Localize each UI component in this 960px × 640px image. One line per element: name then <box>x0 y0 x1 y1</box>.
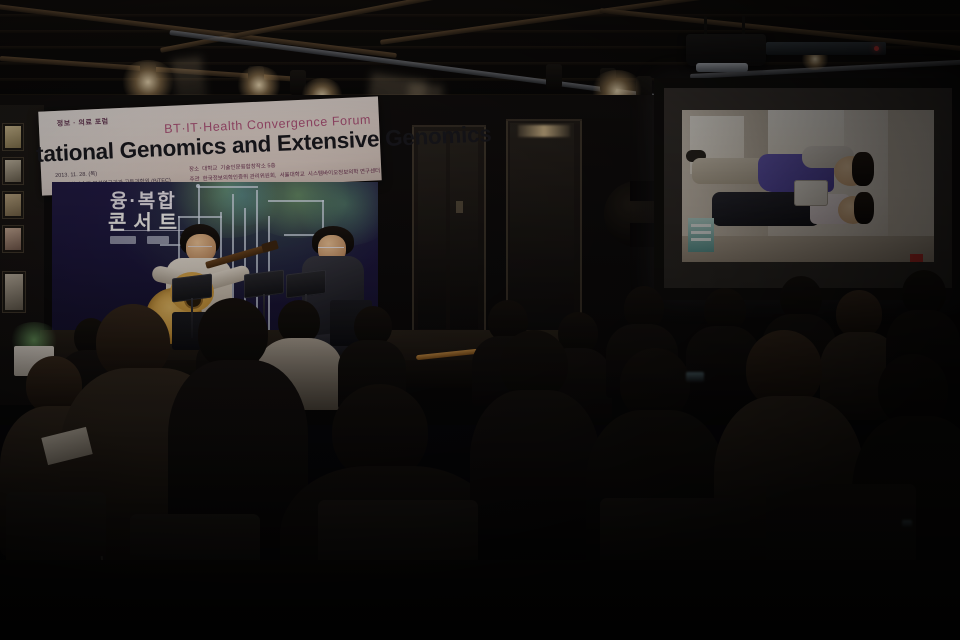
partition-highlight <box>518 125 570 137</box>
projector-lens <box>696 63 748 72</box>
projected-floor <box>682 236 934 262</box>
projector-mount <box>742 16 745 36</box>
event-banner: 정보 · 의료 포럼 BT·IT·Health Convergence Foru… <box>38 96 381 195</box>
projected-tablet-screen <box>910 254 923 262</box>
audience-member <box>470 330 600 560</box>
projected-legs <box>692 158 766 184</box>
guitarist-glasses <box>188 246 212 251</box>
device-screen-glow <box>686 372 704 382</box>
projector-bracket-bar <box>766 42 886 55</box>
sponsor-logo-1 <box>110 236 136 244</box>
framed-picture <box>2 225 24 253</box>
projected-image <box>682 110 934 262</box>
projection-screen <box>654 78 960 300</box>
framed-picture <box>2 157 24 185</box>
framed-picture <box>2 271 26 313</box>
floor <box>0 560 960 640</box>
projected-sign <box>688 218 714 252</box>
door-card-reader[interactable] <box>456 201 463 213</box>
door-glass <box>418 131 446 329</box>
speaker-glasses <box>318 247 344 252</box>
circuit-line <box>198 186 258 188</box>
framed-picture <box>2 123 24 151</box>
photo-scene: 정보 · 의료 포럼 BT·IT·Health Convergence Foru… <box>0 0 960 640</box>
circuit-node <box>196 184 200 188</box>
circuit-line <box>268 200 324 202</box>
projector-status-led <box>874 46 879 51</box>
screen-surface <box>664 88 952 288</box>
ceiling-projector <box>686 34 766 66</box>
circuit-line <box>178 216 222 218</box>
projected-tablet <box>794 180 828 206</box>
projected-person-hair <box>854 192 874 224</box>
track-light <box>546 64 562 90</box>
projected-person-hair <box>852 152 874 186</box>
projector-mount <box>704 16 707 36</box>
audience-shoulders <box>470 390 600 560</box>
device-screen-glow <box>902 520 912 527</box>
framed-picture <box>2 191 24 219</box>
